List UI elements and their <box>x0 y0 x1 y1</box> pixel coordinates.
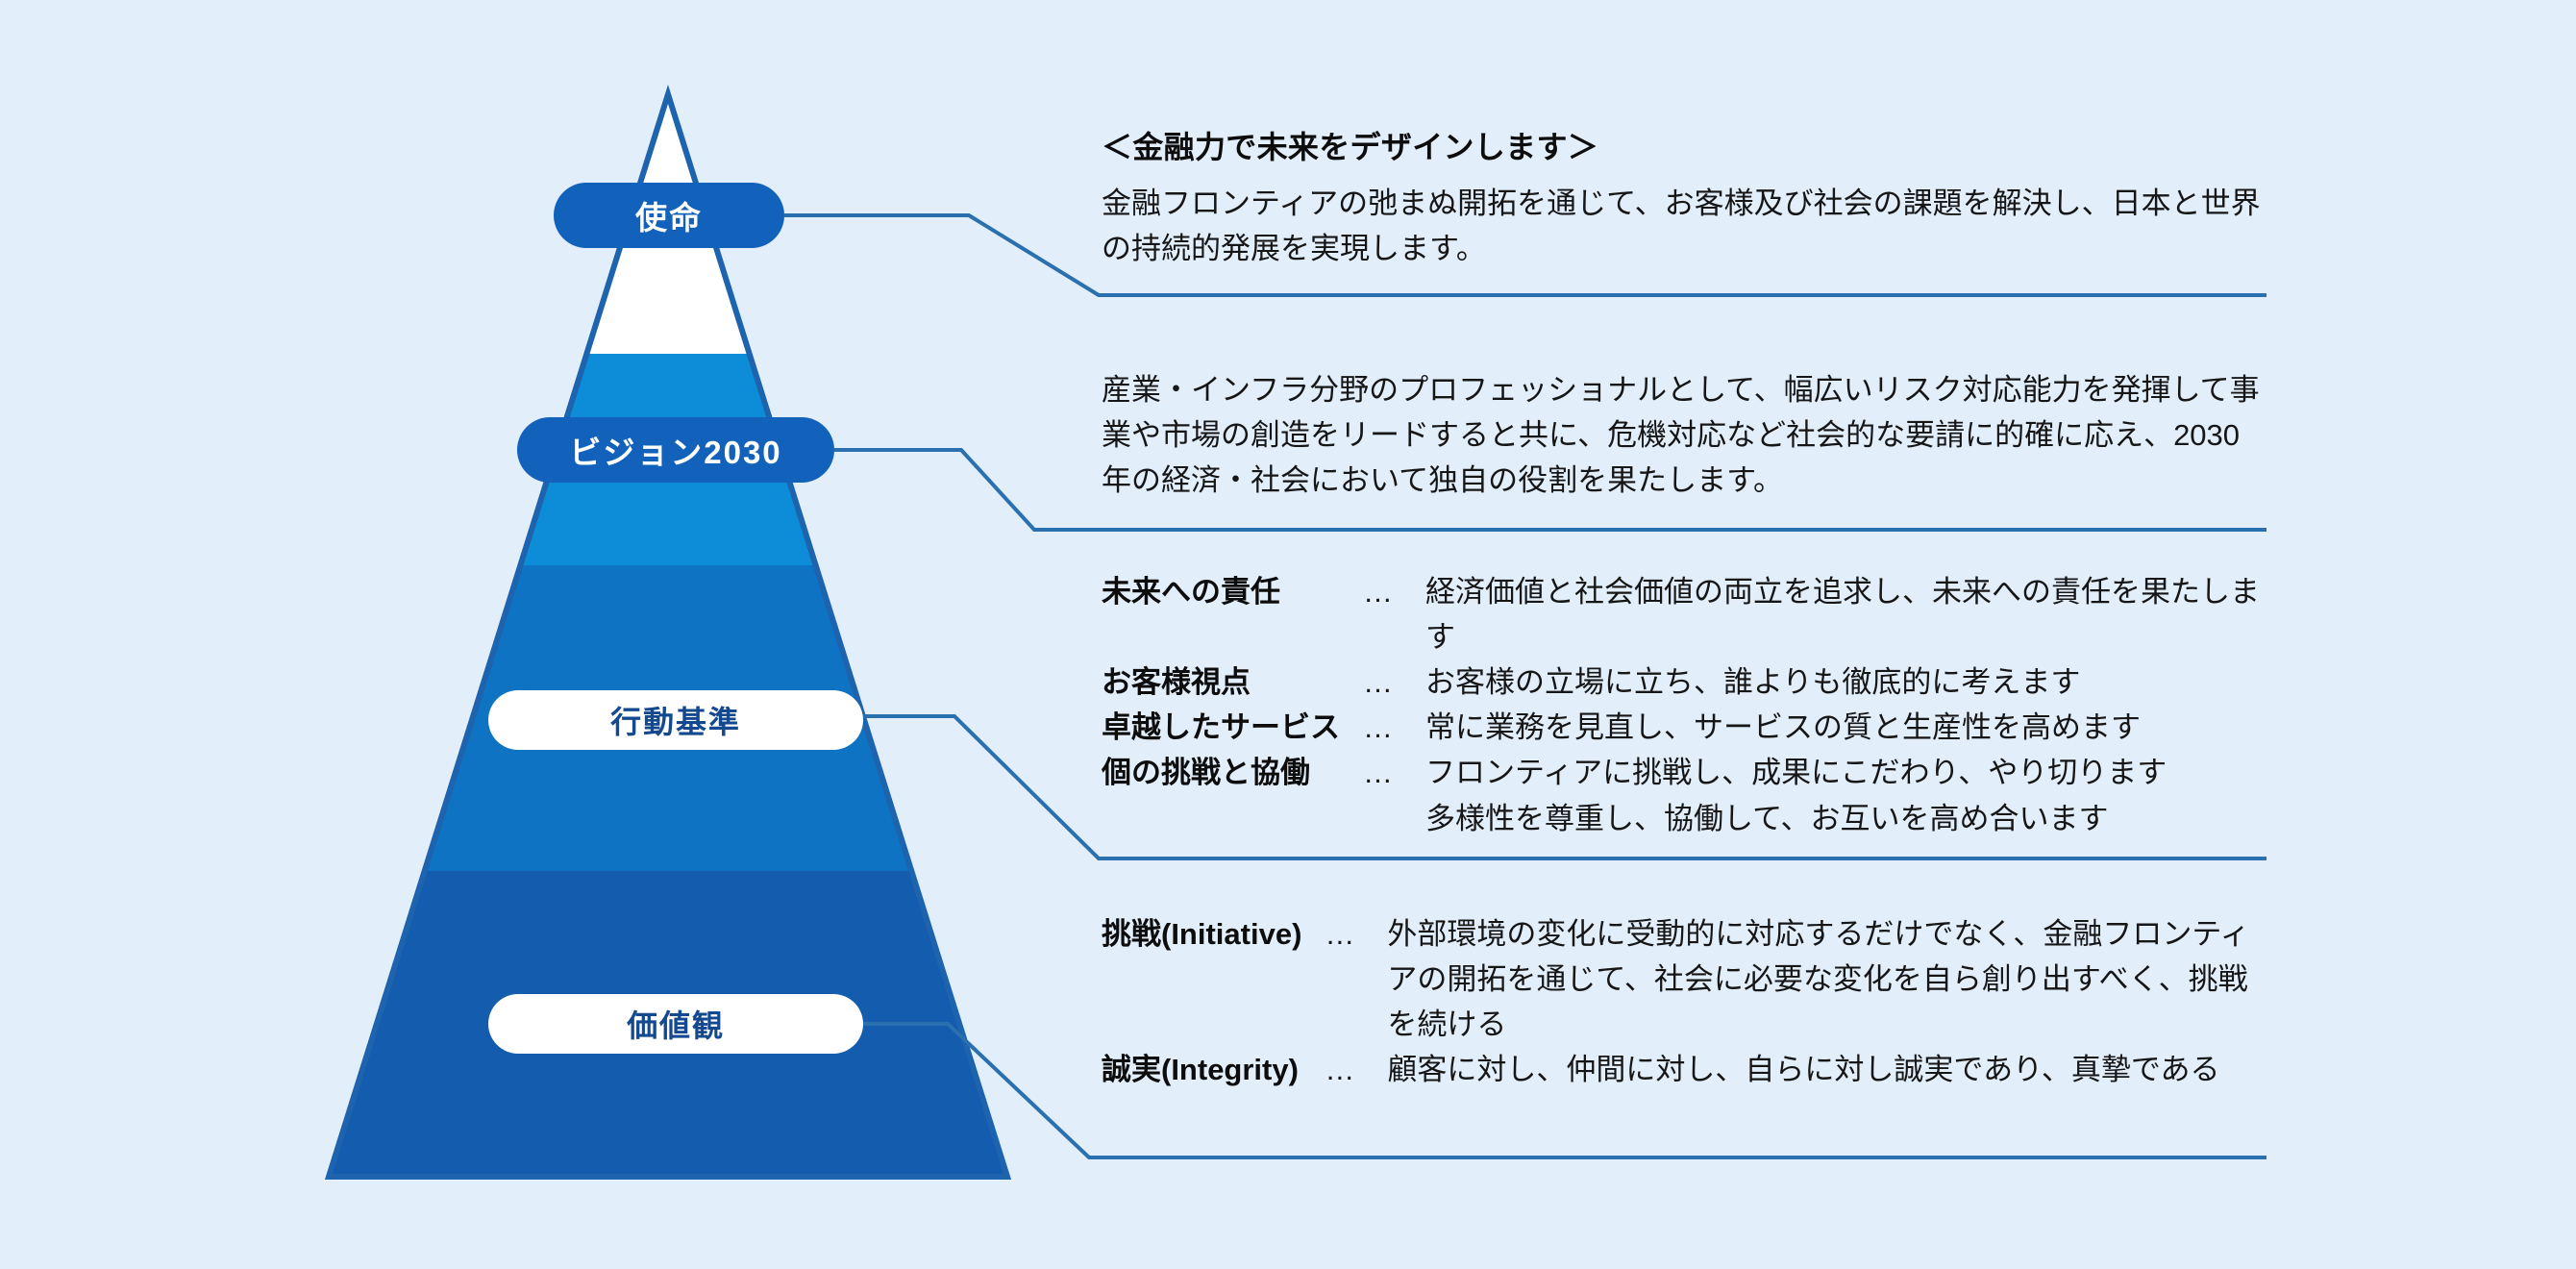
list-item: お客様視点 … お客様の立場に立ち、誰よりも徹底的に考えます <box>1102 659 2269 705</box>
conduct-term: 未来への責任 <box>1102 569 1363 659</box>
values-term: 挑戦(Initiative) <box>1102 911 1325 1047</box>
pyramid-pill-mission-label: 使命 <box>635 192 703 238</box>
conduct-desc: お客様の立場に立ち、誰よりも徹底的に考えます <box>1425 659 2269 705</box>
values-term: 誠実(Integrity) <box>1102 1047 1325 1092</box>
conduct-term: 卓越したサービス <box>1102 705 1363 750</box>
list-item: 誠実(Integrity) … 顧客に対し、仲間に対し、自らに対し誠実であり、真… <box>1102 1047 2269 1092</box>
pyramid-pill-vision[interactable]: ビジョン2030 <box>517 417 834 483</box>
values-desc: 外部環境の変化に受動的に対応するだけでなく、金融フロンティアの開拓を通じて、社会… <box>1387 911 2269 1047</box>
section-vision: 産業・インフラ分野のプロフェッショナルとして、幅広いリスク対応能力を発揮して事業… <box>1102 367 2269 503</box>
conduct-desc-group: フロンティアに挑戦し、成果にこだわり、やり切ります 多様性を尊重し、協働して、お… <box>1425 750 2269 840</box>
pyramid-pill-conduct-label: 行動基準 <box>610 698 741 742</box>
conduct-dots: … <box>1363 659 1425 705</box>
conduct-dots: … <box>1363 705 1425 750</box>
pyramid-pill-values[interactable]: 価値観 <box>488 994 863 1054</box>
section-mission: ＜金融力で未来をデザインします＞ 金融フロンティアの弛まぬ開拓を通じて、お客様及… <box>1102 123 2265 271</box>
conduct-list: 未来への責任 … 経済価値と社会価値の両立を追求し、未来への責任を果たします お… <box>1102 569 2269 841</box>
section-conduct: 未来への責任 … 経済価値と社会価値の両立を追求し、未来への責任を果たします お… <box>1102 569 2269 841</box>
pyramid-pill-conduct[interactable]: 行動基準 <box>488 690 863 750</box>
pyramid-pill-vision-label: ビジョン2030 <box>569 427 781 473</box>
pyramid-pill-mission[interactable]: 使命 <box>554 183 784 248</box>
mission-heading: ＜金融力で未来をデザインします＞ <box>1102 123 2265 167</box>
list-item: 卓越したサービス … 常に業務を見直し、サービスの質と生産性を高めます <box>1102 705 2269 750</box>
list-item: 挑戦(Initiative) … 外部環境の変化に受動的に対応するだけでなく、金… <box>1102 911 2269 1047</box>
conduct-dots: … <box>1363 750 1425 840</box>
section-values: 挑戦(Initiative) … 外部環境の変化に受動的に対応するだけでなく、金… <box>1102 911 2269 1092</box>
mission-paragraph: 金融フロンティアの弛まぬ開拓を通じて、お客様及び社会の課題を解決し、日本と世界の… <box>1102 181 2265 271</box>
values-desc: 顧客に対し、仲間に対し、自らに対し誠実であり、真摯である <box>1387 1047 2269 1092</box>
values-list: 挑戦(Initiative) … 外部環境の変化に受動的に対応するだけでなく、金… <box>1102 911 2269 1092</box>
values-dots: … <box>1325 911 1387 1047</box>
conduct-term: お客様視点 <box>1102 659 1363 705</box>
conduct-dots: … <box>1363 569 1425 659</box>
list-item: 個の挑戦と協働 … フロンティアに挑戦し、成果にこだわり、やり切ります 多様性を… <box>1102 750 2269 840</box>
list-item: 未来への責任 … 経済価値と社会価値の両立を追求し、未来への責任を果たします <box>1102 569 2269 659</box>
pyramid-pill-values-label: 価値観 <box>627 1002 725 1046</box>
values-dots: … <box>1325 1047 1387 1092</box>
diagram-canvas: 使命 ビジョン2030 行動基準 価値観 ＜金融力で未来をデザインします＞ 金融… <box>0 0 2576 1269</box>
conduct-desc: フロンティアに挑戦し、成果にこだわり、やり切ります <box>1425 756 2167 789</box>
conduct-desc-extra: 多様性を尊重し、協働して、お互いを高め合います <box>1425 796 2269 841</box>
conduct-desc: 経済価値と社会価値の両立を追求し、未来への責任を果たします <box>1425 569 2269 659</box>
conduct-term: 個の挑戦と協働 <box>1102 750 1363 840</box>
vision-paragraph: 産業・インフラ分野のプロフェッショナルとして、幅広いリスク対応能力を発揮して事業… <box>1102 367 2269 503</box>
conduct-desc: 常に業務を見直し、サービスの質と生産性を高めます <box>1425 705 2269 750</box>
